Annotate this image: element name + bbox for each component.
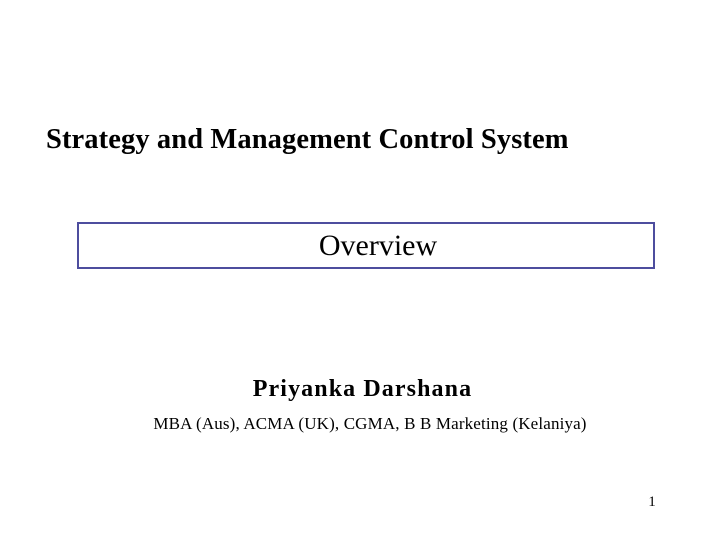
page-title: Strategy and Management Control System <box>46 123 666 157</box>
section-title-box: Overview <box>77 222 655 269</box>
slide-page-number: 1 <box>640 493 664 511</box>
author-name: Priyanka Darshana <box>0 375 720 404</box>
section-title-label: Overview <box>79 224 653 267</box>
presentation-slide: Strategy and Management Control System O… <box>0 0 720 540</box>
author-credentials: MBA (Aus), ACMA (UK), CGMA, B B Marketin… <box>0 413 720 434</box>
